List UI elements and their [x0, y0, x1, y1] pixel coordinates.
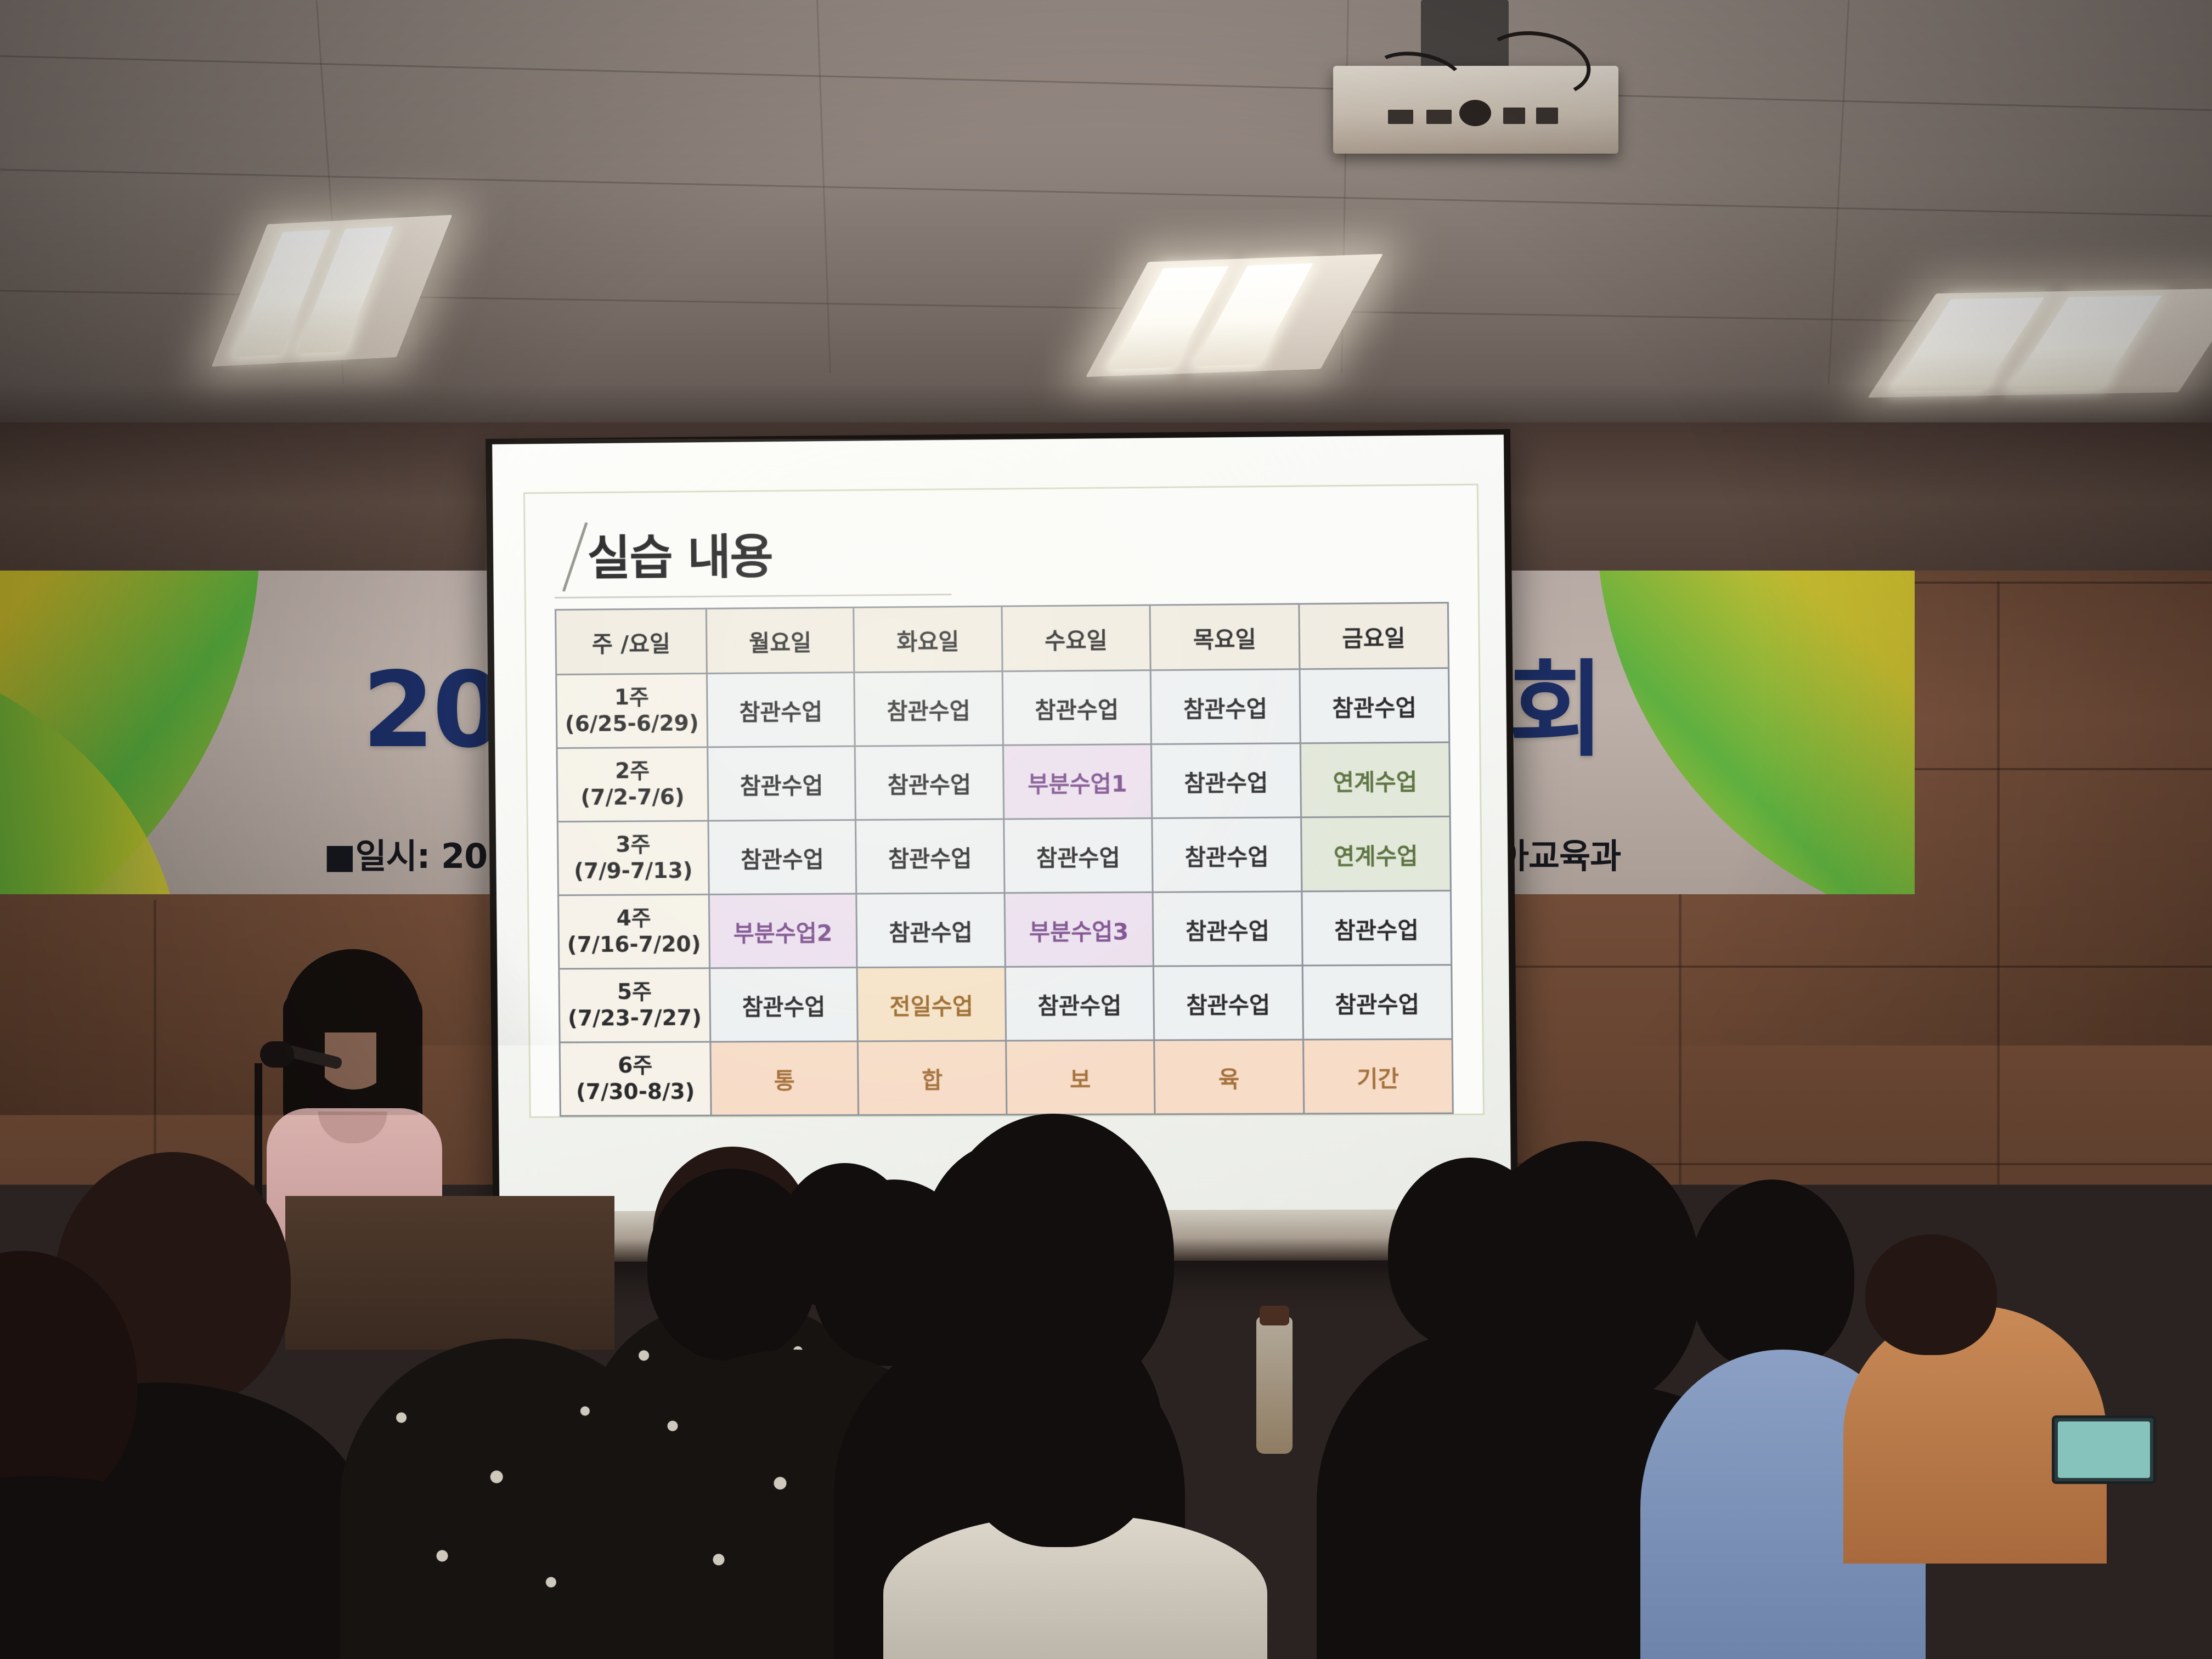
schedule-cell: 참관수업	[1153, 891, 1302, 966]
projector-vent	[1426, 110, 1452, 124]
table-row: 4주(7/16-7/20)부분수업2참관수업부분수업3참관수업참관수업	[558, 890, 1452, 968]
schedule-cell: 참관수업	[708, 746, 856, 821]
week-number: 3주	[558, 832, 708, 859]
week-label-cell: 3주(7/9-7/13)	[557, 821, 709, 895]
audience-head	[1865, 1234, 1997, 1355]
schedule-cell: 참관수업	[708, 820, 856, 895]
projector-vent	[1388, 110, 1413, 124]
schedule-cell: 참관수업	[1002, 670, 1152, 746]
audience-head	[1690, 1180, 1854, 1372]
practicum-schedule-table: 주 /요일 월요일 화요일 수요일 목요일 금요일 1주(6/25-6/29)참…	[555, 602, 1454, 1117]
week-number: 5주	[560, 979, 709, 1006]
wood-seam	[1997, 582, 2000, 1393]
column-header-tuesday: 화요일	[854, 606, 1002, 673]
week-date-range: (7/30-8/3)	[561, 1079, 710, 1105]
schedule-cell: 참관수업	[1301, 890, 1451, 965]
week-date-range: (7/23-7/27)	[560, 1005, 709, 1032]
table-header-row: 주 /요일 월요일 화요일 수요일 목요일 금요일	[556, 603, 1449, 675]
schedule-cell: 부분수업2	[709, 894, 857, 968]
week-number: 4주	[559, 905, 708, 932]
column-header-wednesday: 수요일	[1002, 605, 1151, 672]
week-label-cell: 6주(7/30-8/3)	[560, 1042, 711, 1116]
slide-title-area: 실습 내용	[554, 507, 1448, 609]
table-row: 5주(7/23-7/27)참관수업전일수업참관수업참관수업참관수업	[559, 965, 1452, 1042]
audience-head	[647, 1169, 817, 1361]
banner-title-left: 20	[362, 658, 503, 763]
schedule-cell: 연계수업	[1300, 742, 1450, 817]
audience-head	[955, 1317, 1163, 1547]
week-label-cell: 1주(6/25-6/29)	[556, 674, 708, 748]
microphone-icon	[260, 1041, 294, 1068]
schedule-cell: 참관수업	[856, 819, 1005, 894]
projector-lens	[1459, 100, 1491, 126]
bottle-cap	[1260, 1306, 1289, 1325]
schedule-cell: 연계수업	[1301, 816, 1451, 891]
projector-vent	[1536, 108, 1558, 124]
water-bottle	[1256, 1317, 1293, 1454]
column-header-thursday: 목요일	[1150, 604, 1299, 670]
schedule-cell: 참관수업	[709, 968, 857, 1042]
schedule-cell: 부분수업1	[1003, 744, 1152, 819]
schedule-cell: 부분수업3	[1005, 892, 1154, 967]
week-date-range: (7/16-7/20)	[560, 932, 709, 958]
presentation-slide: 실습 내용 주 /요일 월요일 화요일 수요일 목요일 금요일	[523, 484, 1485, 1118]
column-header-friday: 금요일	[1299, 603, 1448, 669]
table-row: 2주(7/2-7/6)참관수업참관수업부분수업1참관수업연계수업	[557, 742, 1450, 822]
banner-swoosh-right-icon	[1596, 571, 1915, 894]
banner-title-right: 회	[1509, 658, 1602, 763]
schedule-cell: 참관수업	[1003, 818, 1153, 893]
column-header-monday: 월요일	[706, 607, 854, 673]
red-fruit	[1212, 1424, 1246, 1453]
table-row: 1주(6/25-6/29)참관수업참관수업참관수업참관수업참관수업	[556, 668, 1449, 748]
schedule-cell: 기간	[1303, 1039, 1453, 1114]
week-number: 6주	[561, 1052, 710, 1079]
projection-surface: 실습 내용 주 /요일 월요일 화요일 수요일 목요일 금요일	[492, 435, 1511, 1211]
schedule-cell: 참관수업	[1152, 817, 1302, 892]
week-number: 2주	[558, 758, 707, 785]
schedule-cell: 참관수업	[1302, 965, 1452, 1040]
slide-title: 실습 내용	[587, 518, 773, 588]
red-fruit	[1174, 1417, 1204, 1444]
week-date-range: (7/9-7/13)	[558, 857, 708, 884]
schedule-cell: 참관수업	[1299, 668, 1449, 743]
schedule-cell: 참관수업	[1152, 743, 1301, 819]
schedule-cell: 참관수업	[855, 745, 1003, 820]
table-row: 6주(7/30-8/3)통합보육기간	[560, 1039, 1453, 1116]
week-label-cell: 4주(7/16-7/20)	[558, 894, 710, 969]
slide-title-underline	[555, 594, 952, 599]
table-row: 3주(7/9-7/13)참관수업참관수업참관수업참관수업연계수업	[557, 816, 1451, 895]
schedule-cell: 참관수업	[707, 673, 855, 747]
week-date-range: (7/2-7/6)	[558, 784, 707, 811]
projector-vent	[1503, 108, 1525, 124]
banner-subtitle-right: 아교육과	[1498, 828, 1621, 878]
schedule-cell: 전일수업	[857, 967, 1006, 1041]
schedule-cell: 참관수업	[854, 672, 1003, 746]
schedule-cell: 참관수업	[1153, 966, 1303, 1040]
schedule-cell: 육	[1154, 1040, 1304, 1114]
schedule-cell: 참관수업	[856, 893, 1005, 968]
week-label-cell: 5주(7/23-7/27)	[559, 968, 710, 1042]
schedule-cell: 합	[858, 1041, 1007, 1115]
presenter	[236, 949, 488, 1234]
schedule-cell: 참관수업	[1150, 669, 1300, 744]
podium	[285, 1196, 614, 1350]
lecture-hall-scene: 20 회 ■일시: 2018 아교육과 실습 내용 주 /요일 월요일 화	[0, 0, 2212, 1659]
wood-seam	[1481, 966, 2212, 968]
slide-accent-slash-icon	[562, 522, 588, 592]
week-label-cell: 2주(7/2-7/6)	[557, 747, 708, 822]
schedule-cell: 보	[1006, 1040, 1155, 1115]
schedule-cell: 참관수업	[1005, 966, 1154, 1041]
audience-head	[1470, 1141, 1701, 1410]
week-number: 1주	[557, 684, 706, 712]
column-header-week: 주 /요일	[556, 608, 707, 674]
schedule-cell: 통	[710, 1041, 859, 1115]
week-date-range: (6/25-6/29)	[557, 710, 707, 737]
